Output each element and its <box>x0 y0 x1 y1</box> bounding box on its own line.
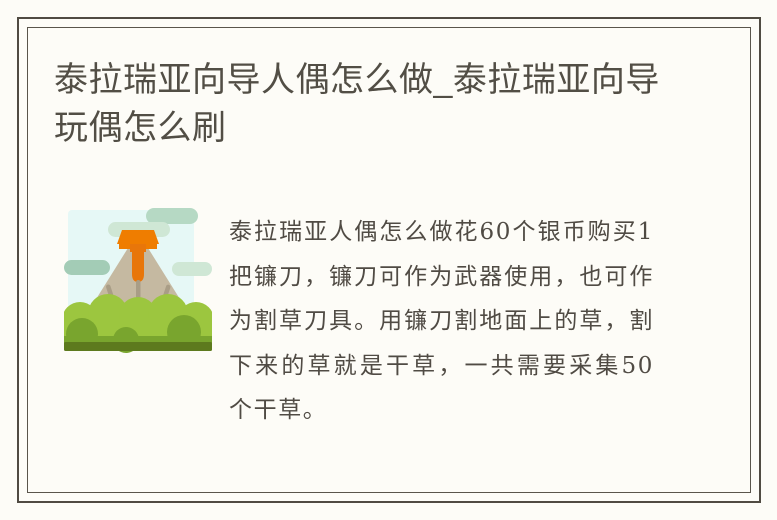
article-body: 泰拉瑞亚人偶怎么做花60个银币购买1把镰刀，镰刀可作为武器使用，也可作为割草刀具… <box>64 200 654 445</box>
page-title: 泰拉瑞亚向导人偶怎么做_泰拉瑞亚向导玩偶怎么刷 <box>54 56 664 152</box>
page-root: 泰拉瑞亚向导人偶怎么做_泰拉瑞亚向导玩偶怎么刷 <box>0 0 777 520</box>
volcano-illustration <box>64 204 212 356</box>
article-content: 泰拉瑞亚向导人偶怎么做_泰拉瑞亚向导玩偶怎么刷 <box>0 0 777 520</box>
article-paragraph: 泰拉瑞亚人偶怎么做花60个银币购买1把镰刀，镰刀可作为武器使用，也可作为割草刀具… <box>229 210 654 433</box>
